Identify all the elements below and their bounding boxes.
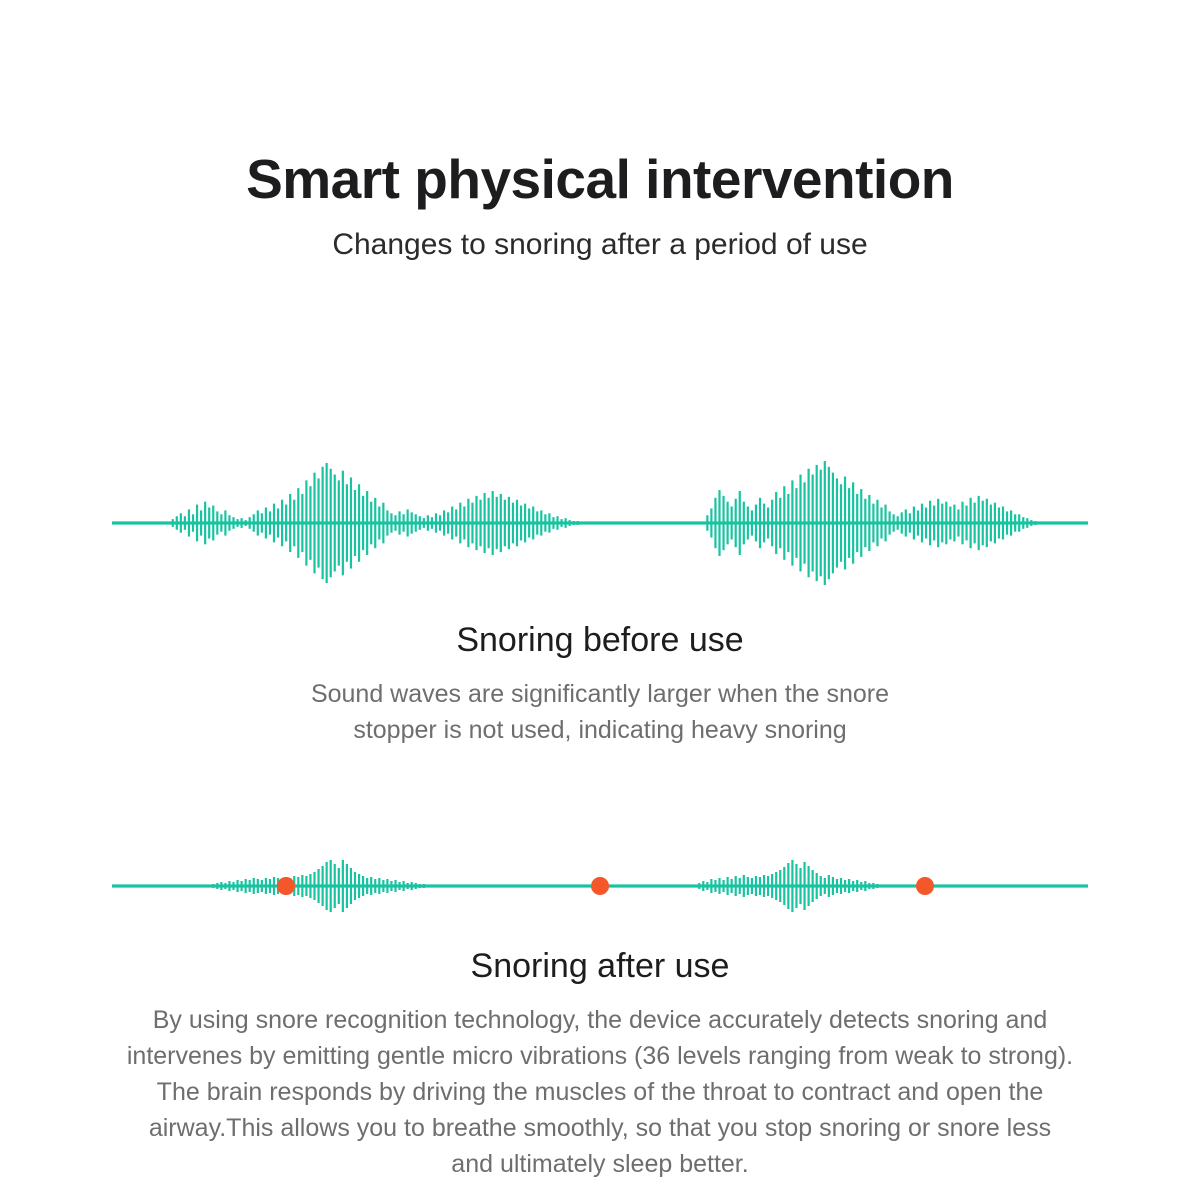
waveform-bar (828, 875, 830, 897)
waveform-bar (860, 882, 862, 890)
waveform-bar (374, 879, 376, 893)
waveform-bar (990, 505, 992, 542)
waveform-bar (767, 508, 769, 539)
waveform-bar (548, 513, 550, 532)
waveform-bar (876, 500, 878, 547)
waveform-bar (840, 484, 842, 562)
waveform-bar (880, 508, 882, 539)
waveform-bar (852, 881, 854, 891)
waveform-bar (848, 879, 850, 893)
waveform-bar (484, 493, 486, 553)
body-line: The brain responds by driving the muscle… (0, 1074, 1200, 1110)
waveform-bar (889, 511, 891, 534)
waveform-bar (407, 509, 409, 536)
waveform-bar (423, 518, 425, 528)
waveform-bar (755, 505, 757, 542)
waveform-bar (970, 498, 972, 548)
waveform-bar (706, 882, 708, 890)
waveform-bar (504, 500, 506, 547)
waveform-bar (982, 501, 984, 546)
waveform-bar (803, 862, 805, 910)
waveform-bar (755, 876, 757, 896)
waveform-bar (512, 503, 514, 544)
waveform-bar (718, 490, 720, 556)
waveform-bar (573, 521, 575, 525)
waveform-bar (759, 498, 761, 548)
waveform-bar (925, 508, 927, 539)
waveform-bar (192, 514, 194, 531)
waveform-bar (957, 509, 959, 536)
waveform-bar (467, 499, 469, 547)
waveform-bar (415, 883, 417, 889)
page-root: Smart physical intervention Changes to s… (0, 0, 1200, 1200)
waveform-bar (872, 504, 874, 543)
waveform-bar (419, 884, 421, 888)
waveform-bar (228, 881, 230, 891)
waveform-bar (787, 863, 789, 909)
waveform-bar (836, 478, 838, 567)
waveform-bar (917, 510, 919, 535)
waveform-bar (893, 514, 895, 531)
waveform-bar (403, 881, 405, 891)
waveform-bar (836, 879, 838, 893)
waveform-bar (261, 880, 263, 892)
waveform-bar (508, 497, 510, 549)
waveform-bar (358, 484, 360, 562)
waveform-bar (799, 475, 801, 572)
body-line: stopper is not used, indicating heavy sn… (0, 712, 1200, 748)
waveform-bar (479, 500, 481, 547)
waveform-bar (937, 499, 939, 547)
waveform-bar (269, 879, 271, 893)
waveform-bar (771, 500, 773, 547)
waveform-bar (832, 877, 834, 895)
waveform-bar (524, 504, 526, 543)
waveform-bar (727, 502, 729, 545)
waveform-bar (933, 506, 935, 541)
waveform-bar (309, 486, 311, 560)
waveform-bar (775, 872, 777, 900)
waveform-bar (488, 498, 490, 548)
waveform-bar (249, 517, 251, 529)
waveform-bar (390, 513, 392, 532)
waveform-bar (949, 507, 951, 540)
section-heading-before: Snoring before use (0, 618, 1200, 662)
waveform-bar (261, 513, 263, 532)
waveform-bar (374, 498, 376, 548)
waveform-bar (913, 507, 915, 540)
waveform-bar (354, 490, 356, 556)
waveform-bar (216, 883, 218, 889)
waveform-bar (816, 873, 818, 899)
waveform-bar (569, 520, 571, 526)
waveform-bar (220, 882, 222, 890)
waveform-bar (257, 510, 259, 535)
waveform-bar (743, 875, 745, 897)
vibration-marker-1-dot (277, 877, 295, 895)
waveform-bar (338, 480, 340, 565)
waveform-bar (354, 872, 356, 900)
waveform-bar (565, 518, 567, 528)
waveform-bar (812, 475, 814, 572)
waveform-bar (273, 504, 275, 543)
waveform-bar (224, 883, 226, 889)
section-body-after: By using snore recognition technology, t… (0, 1002, 1200, 1182)
waveform-bar (236, 519, 238, 527)
waveform-bar (257, 879, 259, 893)
waveform-bar (411, 512, 413, 533)
waveform-bar (378, 878, 380, 894)
waveform-bar (273, 877, 275, 895)
waveform-bar (245, 879, 247, 893)
waveform-bar (277, 508, 279, 537)
waveform-bar (338, 868, 340, 904)
waveform-bar (297, 877, 299, 895)
waveform-bar (1026, 518, 1028, 528)
waveform-bar (714, 880, 716, 892)
waveform-bar (172, 519, 174, 527)
waveform-bar (965, 506, 967, 541)
waveform-bar (253, 878, 255, 894)
waveform-bar (317, 478, 319, 567)
waveform-bar (253, 514, 255, 531)
waveform-bar (208, 508, 210, 539)
waveform-bar (852, 482, 854, 563)
waveform-bar (1030, 520, 1032, 526)
waveform-bar (459, 503, 461, 544)
waveform-bar (342, 860, 344, 912)
waveform-bar (864, 881, 866, 891)
header: Smart physical intervention Changes to s… (0, 0, 1200, 266)
waveform-bar (808, 469, 810, 578)
body-line: intervenes by emitting gentle micro vibr… (0, 1038, 1200, 1074)
waveform-bar (953, 505, 955, 542)
waveform-bar (731, 507, 733, 540)
waveform-bar (767, 876, 769, 896)
waveform-bar (544, 514, 546, 531)
waveform-bar (293, 500, 295, 547)
waveform-bar (350, 477, 352, 568)
waveform-bar (722, 496, 724, 550)
waveform-bar (407, 883, 409, 889)
waveform-bar (451, 507, 453, 540)
waveform-bar (265, 878, 267, 894)
waveform-bar (787, 494, 789, 552)
waveform-bar (812, 870, 814, 902)
waveform-bar (1002, 507, 1004, 540)
waveform-bar (322, 866, 324, 906)
waveform-bar (516, 500, 518, 547)
body-line: and ultimately sleep better. (0, 1146, 1200, 1182)
waveform-bar (431, 517, 433, 529)
waveform-bar (394, 880, 396, 892)
waveform-bar (326, 463, 328, 583)
waveform-bar (743, 502, 745, 545)
waveform-bar (500, 494, 502, 552)
section-body-before: Sound waves are significantly larger whe… (0, 676, 1200, 748)
waveform-bar (783, 486, 785, 560)
waveform-bar (795, 488, 797, 558)
waveform-bar (1022, 517, 1024, 529)
waveform-bar (362, 496, 364, 550)
waveform-bar (747, 507, 749, 540)
body-line: Sound waves are significantly larger whe… (0, 676, 1200, 712)
waveform-bar (556, 516, 558, 530)
body-line: By using snore recognition technology, t… (0, 1002, 1200, 1038)
waveform-bar (783, 867, 785, 905)
waveform-bar (739, 491, 741, 555)
waveform-bar (358, 874, 360, 898)
waveform-bar (334, 864, 336, 908)
waveform-bar (978, 496, 980, 550)
waveform-bar (228, 515, 230, 531)
waveform-bar (779, 498, 781, 548)
waveform-bar (921, 504, 923, 543)
waveform-bar (435, 513, 437, 532)
waveform-bar (317, 869, 319, 903)
waveform-bar (398, 511, 400, 534)
waveform-bar (496, 497, 498, 549)
waveform-bar (245, 520, 247, 526)
waveform-bar (427, 515, 429, 531)
waveform-bar (941, 504, 943, 543)
waveform-bar (184, 516, 186, 530)
waveform-bar (390, 881, 392, 891)
waveform-bar (334, 475, 336, 572)
waveform-bar (897, 516, 899, 530)
waveform-bar (759, 877, 761, 895)
waveform-bar (974, 503, 976, 544)
waveform-bar (739, 878, 741, 894)
waveform-bar (386, 510, 388, 535)
waveform-bar (330, 860, 332, 912)
waveform-bar (378, 507, 380, 540)
waveform-bar (735, 499, 737, 547)
waveform-bar (423, 884, 425, 888)
waveform-bar (439, 515, 441, 531)
vibration-marker-2-dot (591, 877, 609, 895)
waveform-bar (447, 512, 449, 533)
waveform-bar (1010, 510, 1012, 535)
waveform-bar (994, 503, 996, 544)
waveform-bar (848, 488, 850, 558)
waveform-bar (816, 465, 818, 581)
waveform-bar (370, 502, 372, 545)
waveform-bar (1006, 511, 1008, 534)
waveform-bar (884, 505, 886, 542)
waveform-bar (868, 883, 870, 889)
waveform-bar (808, 866, 810, 906)
waveform-bar (824, 461, 826, 585)
waveform-after-use (0, 852, 1200, 920)
waveform-bar (463, 507, 465, 540)
waveform-bar (909, 513, 911, 532)
waveform-bar (362, 876, 364, 896)
waveform-bar (864, 499, 866, 547)
waveform-bar (366, 491, 368, 555)
page-subtitle: Changes to snoring after a period of use (0, 224, 1200, 266)
waveform-bar (313, 872, 315, 900)
waveform-bar (196, 505, 198, 542)
waveform-bar (706, 515, 708, 531)
page-title: Smart physical intervention (0, 148, 1200, 210)
waveform-before-use (0, 452, 1200, 594)
waveform-bar (824, 878, 826, 894)
waveform-bar (929, 501, 931, 546)
waveform-bar (727, 877, 729, 895)
waveform-bar (330, 469, 332, 578)
waveform-bar (301, 494, 303, 552)
waveform-bar (224, 510, 226, 535)
waveform-bar (986, 499, 988, 547)
waveform-bar (820, 876, 822, 896)
waveform-bar (844, 880, 846, 892)
waveform-bar (763, 504, 765, 543)
waveform-bar (722, 880, 724, 892)
waveform-bar (475, 496, 477, 550)
waveform-bar (350, 868, 352, 904)
waveform-bar (552, 517, 554, 529)
waveform-bar (232, 517, 234, 529)
waveform-bar (779, 870, 781, 902)
waveform-bar (212, 884, 214, 888)
waveform-bar (382, 880, 384, 892)
waveform-bar (241, 518, 243, 528)
waveform-bar (560, 519, 562, 527)
waveform-bar (322, 467, 324, 579)
waveform-bar (492, 491, 494, 555)
waveform-bar (269, 511, 271, 534)
waveform-bar (532, 507, 534, 540)
waveform-bar (540, 510, 542, 535)
waveform-bar (411, 882, 413, 890)
section-heading-after: Snoring after use (0, 944, 1200, 988)
waveform-bar (249, 880, 251, 892)
waveform-bar (828, 467, 830, 579)
waveform-bar (795, 864, 797, 908)
waveform-bar (398, 882, 400, 890)
waveform-bar (232, 882, 234, 890)
waveform-bar (180, 513, 182, 532)
waveform-bar (702, 881, 704, 891)
waveform-bar (301, 875, 303, 897)
waveform-bar (471, 503, 473, 544)
waveform-bar (735, 876, 737, 896)
waveform-bar (265, 508, 267, 539)
waveform-bar (803, 482, 805, 563)
waveform-bar (731, 879, 733, 893)
waveform-bar (961, 502, 963, 545)
waveform-bar (188, 509, 190, 536)
waveform-after-use-svg (0, 852, 1200, 920)
waveform-bar (1014, 514, 1016, 531)
waveform-bar (212, 506, 214, 541)
waveform-bar (520, 506, 522, 541)
waveform-bar (771, 874, 773, 898)
section-snoring-after-use: Snoring after use By using snore recogni… (0, 944, 1200, 1182)
waveform-bar (326, 862, 328, 910)
waveform-bar (313, 473, 315, 574)
waveform-bar (1018, 514, 1020, 531)
waveform-bar (342, 471, 344, 576)
waveform-bar (791, 860, 793, 912)
waveform-bar (998, 508, 1000, 539)
waveform-bar (876, 884, 878, 888)
waveform-bar (370, 877, 372, 895)
waveform-bar (844, 477, 846, 570)
waveform-bar (403, 514, 405, 531)
waveform-bar (366, 878, 368, 894)
waveform-bar (455, 509, 457, 536)
waveform-bar (415, 514, 417, 531)
waveform-bar (236, 880, 238, 892)
waveform-bar (718, 878, 720, 894)
waveform-bar (751, 878, 753, 894)
waveform-bar (281, 500, 283, 547)
waveform-bar (791, 480, 793, 565)
waveform-bar (289, 494, 291, 552)
waveform-bar (305, 876, 307, 896)
waveform-bar (394, 515, 396, 531)
waveform-bar (346, 484, 348, 562)
waveform-bar (868, 495, 870, 551)
waveform-bar (528, 508, 530, 537)
waveform-bar (751, 510, 753, 535)
waveform-bar (382, 503, 384, 544)
waveform-bar (220, 514, 222, 531)
waveform-bar (241, 881, 243, 891)
waveform-bar (176, 516, 178, 530)
waveform-bar (1034, 521, 1036, 525)
waveform-bar (856, 880, 858, 892)
section-snoring-before-use: Snoring before use Sound waves are signi… (0, 618, 1200, 748)
waveform-bar (714, 498, 716, 548)
waveform-bar (860, 489, 862, 557)
waveform-bar (775, 492, 777, 554)
vibration-marker-3-dot (916, 877, 934, 895)
waveform-bar (443, 510, 445, 535)
waveform-bar (832, 473, 834, 574)
waveform-bar (346, 864, 348, 908)
waveform-bar (747, 877, 749, 895)
waveform-bar (856, 494, 858, 552)
waveform-bar (216, 511, 218, 534)
waveform-bar (905, 509, 907, 536)
waveform-bar (577, 521, 579, 525)
waveform-before-use-svg (0, 452, 1200, 594)
waveform-bar (386, 879, 388, 893)
waveform-bar (285, 505, 287, 542)
waveform-bar (419, 516, 421, 530)
waveform-bar (204, 502, 206, 545)
waveform-bar (820, 470, 822, 577)
waveform-bar (305, 480, 307, 565)
waveform-bar (309, 874, 311, 898)
waveform-bar (763, 875, 765, 897)
body-line: airway.This allows you to breathe smooth… (0, 1110, 1200, 1146)
waveform-bar (200, 510, 202, 535)
waveform-bar (710, 879, 712, 893)
waveform-bar (901, 512, 903, 533)
waveform-bar (799, 868, 801, 904)
waveform-bar (698, 883, 700, 889)
waveform-bar (710, 508, 712, 537)
waveform-bar (945, 502, 947, 545)
waveform-bar (297, 488, 299, 558)
waveform-bar (536, 511, 538, 534)
waveform-bar (872, 883, 874, 889)
waveform-bar (840, 878, 842, 894)
